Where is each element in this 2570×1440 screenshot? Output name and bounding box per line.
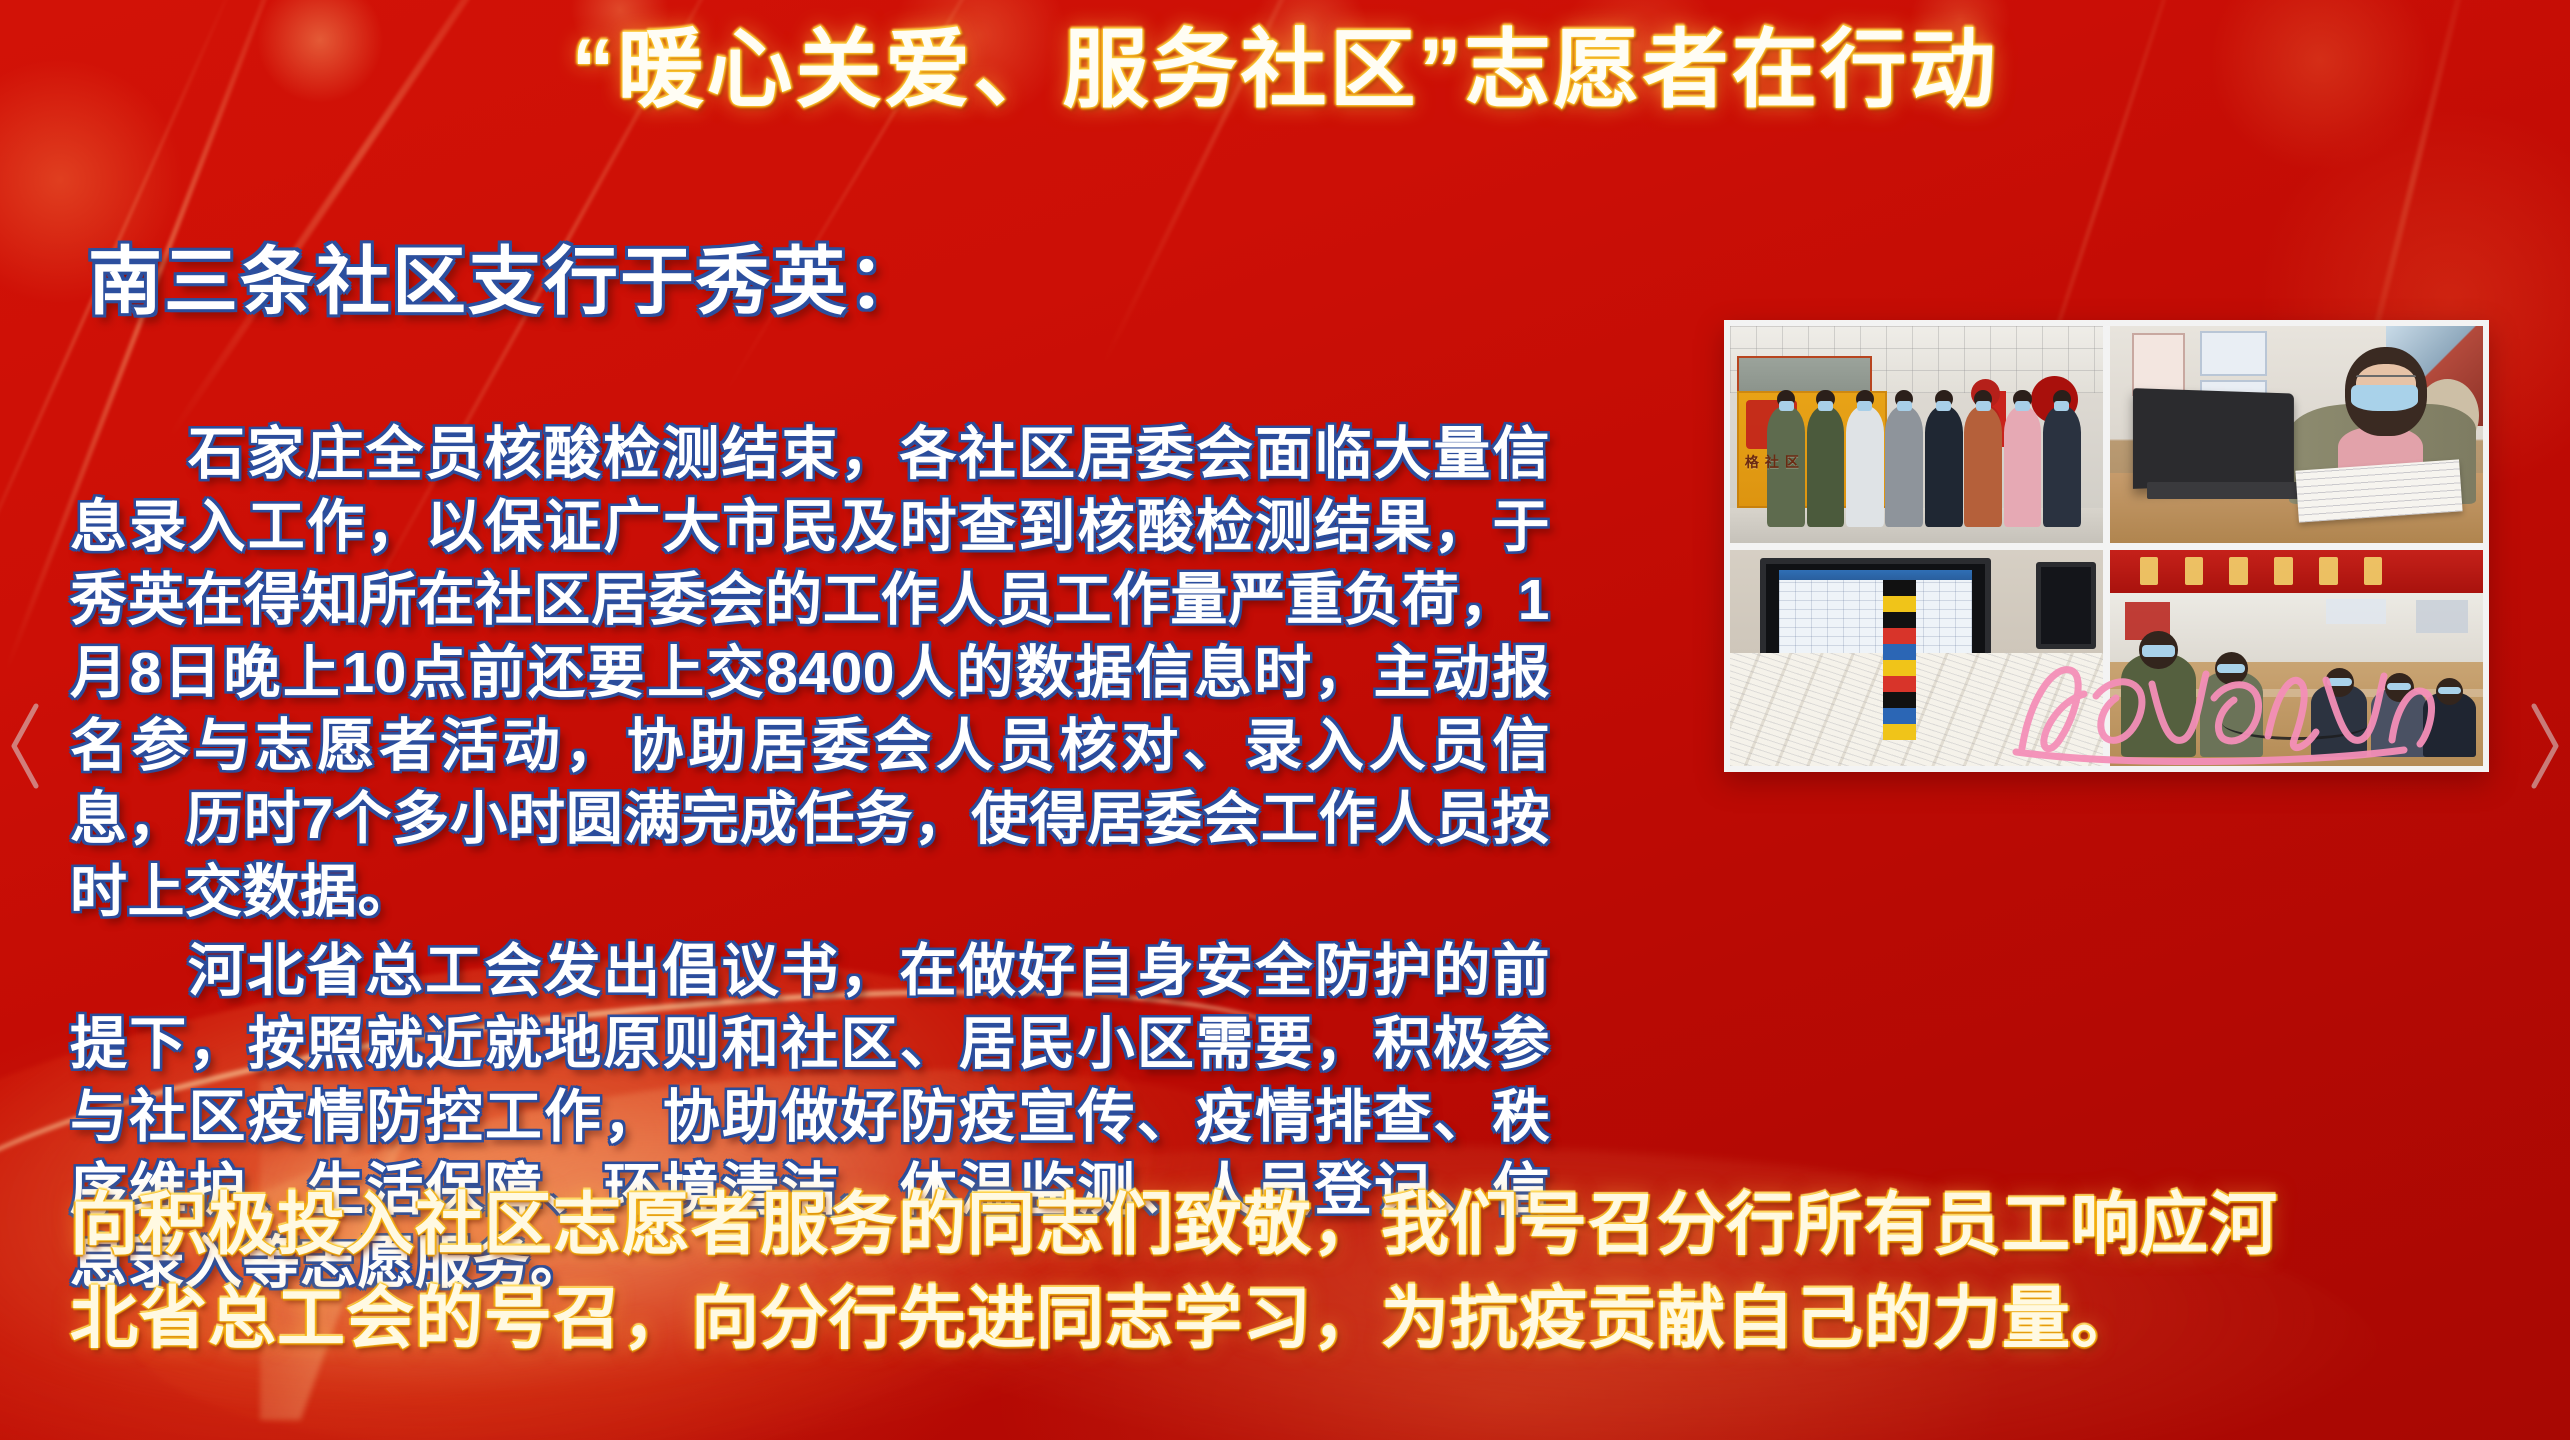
prev-slide-arrow-icon[interactable] [4, 700, 48, 792]
page-title: “暖心关爱、服务社区”志愿者在行动 [0, 20, 2570, 121]
photo-monitor-with-paper-forms [1730, 550, 2103, 767]
wall-sign-text: 格社区 [1745, 452, 1805, 472]
photo-volunteers-at-desks [2110, 550, 2483, 767]
slide-canvas: “暖心关爱、服务社区”志愿者在行动 南三条社区支行于秀英： 石家庄全员核酸检测结… [0, 0, 2570, 1440]
next-slide-arrow-icon[interactable] [2522, 700, 2566, 792]
caption-line-2: 北省总工会的号召，向分行先进同志学习，为抗疫贡献自己的力量。 [70, 1272, 2510, 1366]
photo-collage: 格社区 [1724, 320, 2489, 772]
bottom-caption-block: 向积极投入社区志愿者服务的同志们致敬，我们号召分行所有员工响应河 北省总工会的号… [70, 1178, 2510, 1366]
body-paragraph-1: 石家庄全员核酸检测结束，各社区居委会面临大量信息录入工作，以保证广大市民及时查到… [70, 418, 1550, 929]
subtitle-branch-and-name: 南三条社区支行于秀英： [88, 222, 924, 329]
photo-group-photo-community-office: 格社区 [1730, 326, 2103, 543]
photo-volunteer-at-laptop [2110, 326, 2483, 543]
body-text-block: 石家庄全员核酸检测结束，各社区居委会面临大量信息录入工作，以保证广大市民及时查到… [70, 418, 1550, 1300]
caption-line-1: 向积极投入社区志愿者服务的同志们致敬，我们号召分行所有员工响应河 [70, 1178, 2510, 1272]
